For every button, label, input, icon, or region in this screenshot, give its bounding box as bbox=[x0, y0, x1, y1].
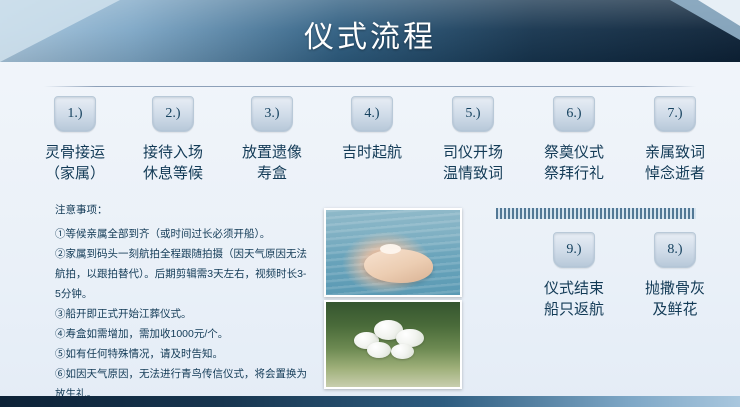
slide-canvas: 仪式流程 1.) 灵骨接运 （家属） 2.) 接待入场 休息等候 3.) 放置遗… bbox=[0, 0, 740, 407]
step-2: 2.) 接待入场 休息等候 bbox=[126, 96, 220, 184]
notes-block: 注意事项： ①等候亲属全部到齐（或时间过长必须开船）。 ②家属到码头一刻航拍全程… bbox=[55, 200, 307, 404]
white-balloons-photo bbox=[324, 300, 462, 389]
step-5-badge: 5.) bbox=[452, 96, 494, 132]
step-8-badge: 8.) bbox=[654, 232, 696, 268]
photo-2-balloon-cluster bbox=[350, 317, 436, 368]
step-7-badge: 7.) bbox=[654, 96, 696, 132]
step-1: 1.) 灵骨接运 （家属） bbox=[28, 96, 122, 184]
note-line-1: ①等候亲属全部到齐（或时间过长必须开船）。 bbox=[55, 224, 307, 244]
step-1-badge: 1.) bbox=[54, 96, 96, 132]
step-3: 3.) 放置遗像 寿盒 bbox=[225, 96, 319, 184]
step-9-badge: 9.) bbox=[553, 232, 595, 268]
slide-header-bar: 仪式流程 bbox=[0, 0, 740, 62]
page-title: 仪式流程 bbox=[0, 12, 740, 56]
hand-holding-ashes-photo bbox=[324, 208, 462, 297]
photo-1-content bbox=[326, 210, 460, 295]
step-8: 8.) 抛撒骨灰 及鲜花 bbox=[628, 232, 722, 320]
step-9: 9.) 仪式结束 船只返航 bbox=[527, 232, 621, 320]
step-5: 5.) 司仪开场 温情致词 bbox=[426, 96, 520, 184]
step-7-label: 亲属致词 悼念逝者 bbox=[628, 142, 722, 184]
step-4-badge: 4.) bbox=[351, 96, 393, 132]
step-6-label: 祭奠仪式 祭拜行礼 bbox=[527, 142, 621, 184]
step-6-badge: 6.) bbox=[553, 96, 595, 132]
notes-title: 注意事项： bbox=[55, 200, 307, 220]
step-3-label: 放置遗像 寿盒 bbox=[225, 142, 319, 184]
slide-footer-bar bbox=[0, 396, 740, 407]
balloon-5 bbox=[391, 344, 413, 359]
note-line-2: ②家属到码头一刻航拍全程跟随拍摄（因天气原因无法航拍，以跟拍替代）。后期剪辑需3… bbox=[55, 244, 307, 304]
note-line-4: ④寿盒如需增加，需加收1000元/个。 bbox=[55, 324, 307, 344]
step-4: 4.) 吉时起航 bbox=[325, 96, 419, 163]
step-5-label: 司仪开场 温情致词 bbox=[426, 142, 520, 184]
content-divider bbox=[44, 86, 696, 87]
photo-2-content bbox=[326, 302, 460, 387]
step-8-label: 抛撒骨灰 及鲜花 bbox=[628, 278, 722, 320]
step-1-label: 灵骨接运 （家属） bbox=[28, 142, 122, 184]
note-line-5: ⑤如有任何特殊情况，请及时告知。 bbox=[55, 344, 307, 364]
balloon-4 bbox=[367, 342, 391, 358]
step-7: 7.) 亲属致词 悼念逝者 bbox=[628, 96, 722, 184]
step-2-label: 接待入场 休息等候 bbox=[126, 142, 220, 184]
dashed-connector-bar bbox=[496, 208, 696, 219]
step-3-badge: 3.) bbox=[251, 96, 293, 132]
note-line-3: ③船开即正式开始江葬仪式。 bbox=[55, 304, 307, 324]
step-2-badge: 2.) bbox=[152, 96, 194, 132]
step-4-label: 吉时起航 bbox=[325, 142, 419, 163]
step-9-label: 仪式结束 船只返航 bbox=[527, 278, 621, 320]
step-6: 6.) 祭奠仪式 祭拜行礼 bbox=[527, 96, 621, 184]
